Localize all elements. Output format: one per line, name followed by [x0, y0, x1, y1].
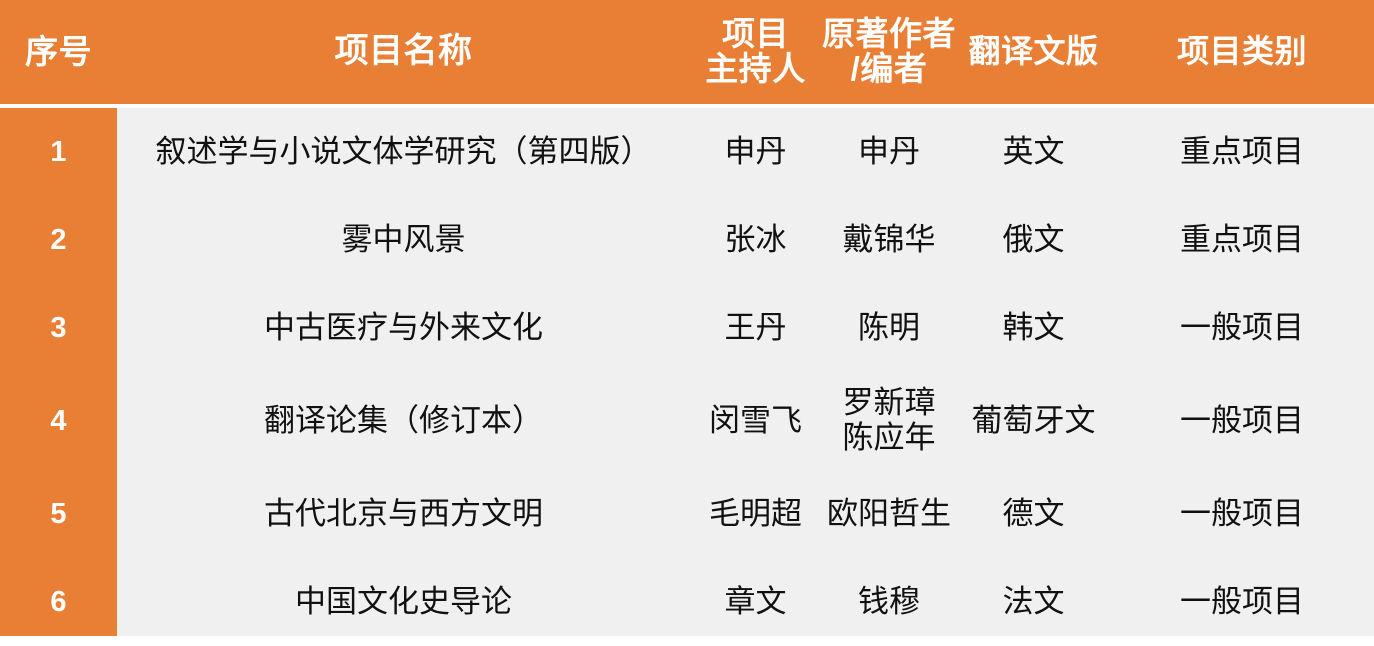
- cell-category: 一般项目: [1110, 585, 1374, 620]
- column-header-language: 翻译文版: [957, 35, 1110, 69]
- serial-number-column: [0, 108, 117, 636]
- cell-author: 钱穆: [821, 585, 957, 620]
- cell-category: 重点项目: [1110, 135, 1374, 170]
- cell-name: 叙述学与小说文体学研究（第四版）: [117, 135, 690, 170]
- cell-category: 一般项目: [1110, 497, 1374, 532]
- table-row: 5 古代北京与西方文明 毛明超 欧阳哲生 德文 一般项目: [0, 470, 1374, 558]
- table-row: 3 中古医疗与外来文化 王丹 陈明 韩文 一般项目: [0, 284, 1374, 372]
- cell-author: 陈明: [821, 311, 957, 346]
- cell-language: 葡萄牙文: [957, 404, 1110, 439]
- table-header-row: 序号 项目名称 项目 主持人 原著作者 /编者 翻译文版 项目类别: [0, 0, 1374, 104]
- cell-host: 闵雪飞: [690, 404, 821, 439]
- column-header-name: 项目名称: [117, 34, 690, 70]
- table-body: 1 叙述学与小说文体学研究（第四版） 申丹 申丹 英文 重点项目 2 雾中风景 …: [0, 108, 1374, 636]
- cell-language: 韩文: [957, 311, 1110, 346]
- cell-language: 法文: [957, 585, 1110, 620]
- cell-seq: 1: [0, 136, 117, 168]
- cell-category: 重点项目: [1110, 223, 1374, 258]
- column-header-host: 项目 主持人: [690, 17, 821, 86]
- cell-seq: 4: [0, 405, 117, 437]
- cell-name: 雾中风景: [117, 223, 690, 258]
- cell-category: 一般项目: [1110, 404, 1374, 439]
- cell-language: 德文: [957, 497, 1110, 532]
- table-row: 1 叙述学与小说文体学研究（第四版） 申丹 申丹 英文 重点项目: [0, 108, 1374, 196]
- table-row: 2 雾中风景 张冰 戴锦华 俄文 重点项目: [0, 196, 1374, 284]
- column-header-seq: 序号: [0, 35, 117, 70]
- cell-seq: 6: [0, 586, 117, 618]
- cell-author: 戴锦华: [821, 223, 957, 258]
- cell-host: 王丹: [690, 311, 821, 346]
- cell-host: 毛明超: [690, 497, 821, 532]
- cell-name: 中国文化史导论: [117, 585, 690, 620]
- cell-host: 张冰: [690, 223, 821, 258]
- table-row: 6 中国文化史导论 章文 钱穆 法文 一般项目: [0, 558, 1374, 646]
- cell-language: 英文: [957, 135, 1110, 170]
- table-row: 4 翻译论集（修订本） 闵雪飞 罗新璋 陈应年 葡萄牙文 一般项目: [0, 372, 1374, 470]
- cell-author: 申丹: [821, 135, 957, 170]
- cell-name: 古代北京与西方文明: [117, 497, 690, 532]
- cell-seq: 3: [0, 312, 117, 344]
- cell-name: 中古医疗与外来文化: [117, 311, 690, 346]
- cell-host: 申丹: [690, 135, 821, 170]
- cell-category: 一般项目: [1110, 311, 1374, 346]
- cell-host: 章文: [690, 585, 821, 620]
- cell-seq: 2: [0, 224, 117, 256]
- project-table: 序号 项目名称 项目 主持人 原著作者 /编者 翻译文版 项目类别 1 叙述学与…: [0, 0, 1374, 639]
- column-header-category: 项目类别: [1110, 35, 1374, 69]
- cell-author: 欧阳哲生: [821, 497, 957, 532]
- cell-author: 罗新璋 陈应年: [821, 386, 957, 455]
- cell-seq: 5: [0, 498, 117, 530]
- cell-language: 俄文: [957, 223, 1110, 258]
- cell-name: 翻译论集（修订本）: [117, 404, 690, 439]
- column-header-author: 原著作者 /编者: [821, 17, 957, 86]
